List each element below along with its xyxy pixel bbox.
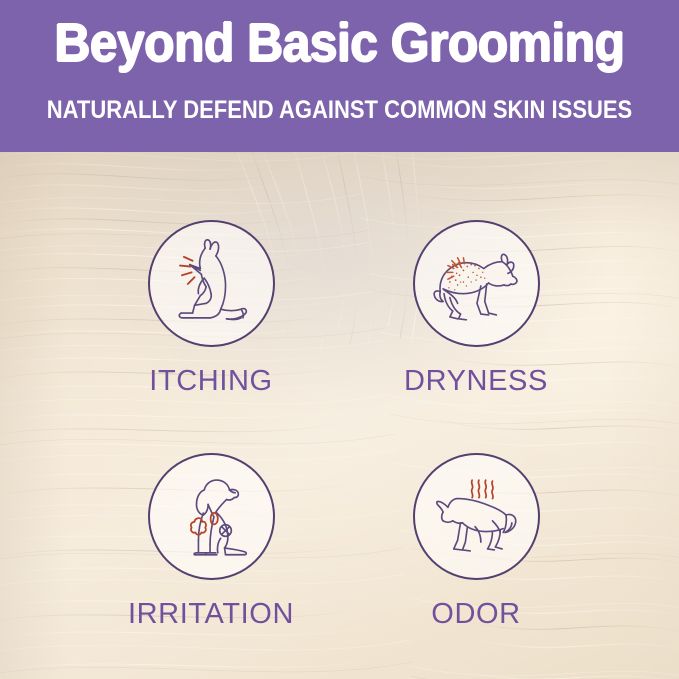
dog-odor-icon xyxy=(415,453,538,580)
page-subtitle: NATURALLY DEFEND AGAINST COMMON SKIN ISS… xyxy=(41,95,639,125)
infographic-canvas: Beyond Basic Grooming NATURALLY DEFEND A… xyxy=(0,0,679,679)
benefit-item-dryness: DRYNESS xyxy=(356,220,596,396)
benefit-label: ODOR xyxy=(356,599,596,629)
benefit-label: ITCHING xyxy=(91,366,331,396)
stink-wavy-lines xyxy=(471,480,492,498)
benefit-label: DRYNESS xyxy=(356,366,596,396)
page-title: Beyond Basic Grooming xyxy=(27,12,652,74)
benefit-item-irritation: IRRITATION xyxy=(91,453,331,629)
benefit-item-odor: ODOR xyxy=(356,453,596,629)
benefit-label: IRRITATION xyxy=(91,599,331,629)
dog-flaky-skin-icon xyxy=(415,220,538,347)
dog-scratching-icon xyxy=(150,220,273,347)
benefit-circle xyxy=(413,453,540,580)
benefit-item-itching: ITCHING xyxy=(91,220,331,396)
benefit-circle xyxy=(148,453,275,580)
itch-burst-marks xyxy=(180,257,195,284)
benefits-grid: ITCHING xyxy=(0,152,679,679)
dog-irritated-patch-icon xyxy=(150,453,273,580)
benefit-circle xyxy=(413,220,540,347)
benefit-circle xyxy=(148,220,275,347)
header-banner: Beyond Basic Grooming NATURALLY DEFEND A… xyxy=(0,0,679,152)
